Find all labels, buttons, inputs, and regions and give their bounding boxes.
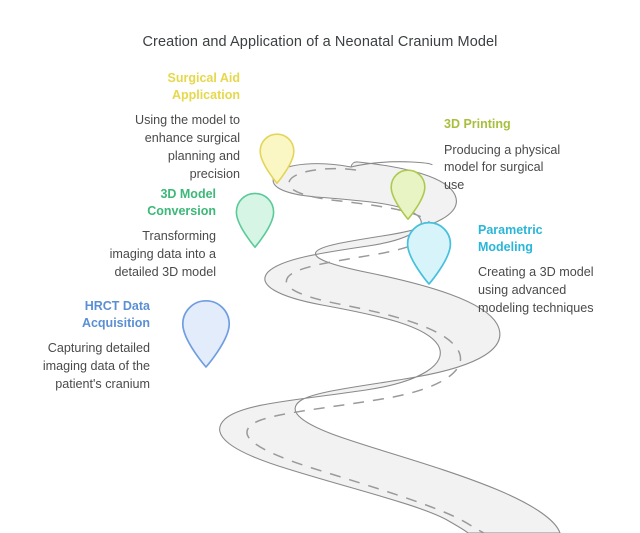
step-body: Using the model to enhance surgical plan… — [108, 112, 240, 184]
step-parametric-modeling: Parametric Modeling Creating a 3D model … — [478, 222, 630, 318]
step-3d-model-conversion: 3D Model Conversion Transforming imaging… — [88, 186, 216, 282]
step-heading: Surgical Aid Application — [108, 70, 240, 103]
infographic-canvas: Creation and Application of a Neonatal C… — [0, 0, 640, 533]
step-body: Producing a physical model for surgical … — [444, 142, 604, 196]
step-hrct-data-acquisition: HRCT Data Acquisition Capturing detailed… — [18, 298, 150, 394]
step-body: Transforming imaging data into a detaile… — [88, 228, 216, 282]
step-3d-printing: 3D Printing Producing a physical model f… — [444, 116, 604, 195]
step-body: Creating a 3D model using advanced model… — [478, 264, 630, 318]
step-surgical-aid-application: Surgical Aid Application Using the model… — [108, 70, 240, 184]
step-body: Capturing detailed imaging data of the p… — [18, 340, 150, 394]
step-heading: HRCT Data Acquisition — [18, 298, 150, 331]
map-pin-3d-model-conversion[interactable] — [234, 191, 276, 248]
map-pin-surgical-aid-application[interactable] — [258, 132, 296, 184]
step-heading: 3D Printing — [444, 116, 604, 133]
step-heading: 3D Model Conversion — [88, 186, 216, 219]
map-pin-3d-printing[interactable] — [389, 168, 427, 220]
map-pin-hrct-data-acquisition[interactable] — [180, 298, 232, 368]
step-heading: Parametric Modeling — [478, 222, 630, 255]
map-pin-parametric-modeling[interactable] — [405, 220, 453, 285]
